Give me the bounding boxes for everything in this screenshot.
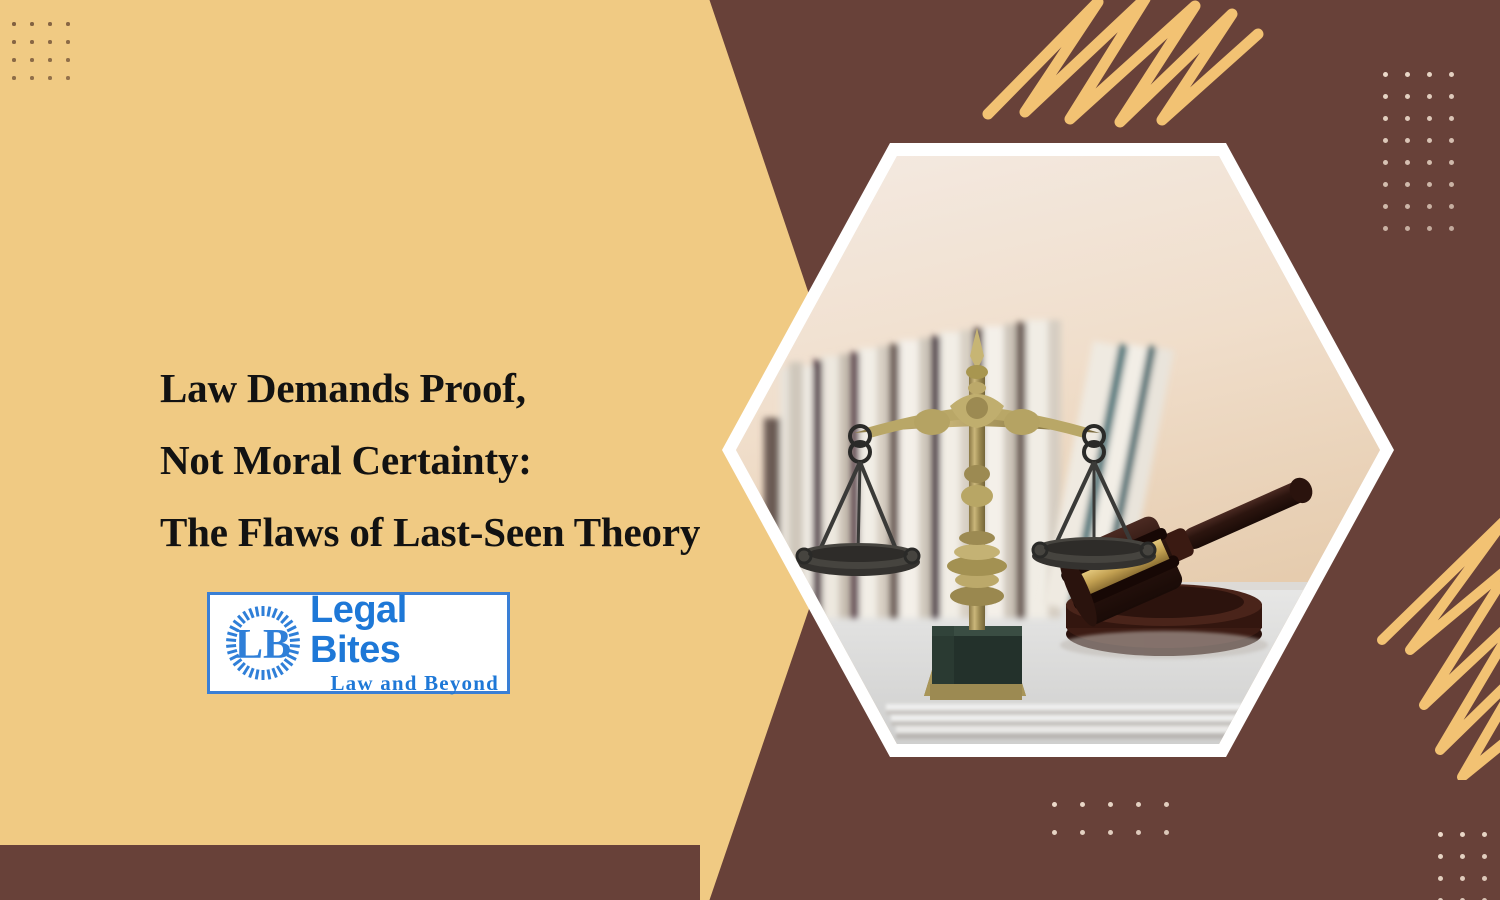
headline-line-1: Law Demands Proof,: [160, 352, 720, 424]
decorative-dot: [48, 76, 52, 80]
decorative-dot: [1108, 830, 1113, 835]
bottom-left-brown-bar: [0, 845, 700, 900]
decorative-dot: [1164, 802, 1169, 807]
decorative-dot: [1449, 94, 1454, 99]
decorative-dot: [1052, 830, 1057, 835]
decorative-dot: [1405, 204, 1410, 209]
decorative-dot: [1108, 802, 1113, 807]
hexagon-photo-frame: [722, 143, 1394, 757]
decorative-dot: [12, 40, 16, 44]
decorative-dot: [1482, 832, 1487, 837]
decorative-dot: [1427, 138, 1432, 143]
decorative-dot: [1080, 830, 1085, 835]
legal-bites-monogram-icon: LB: [220, 600, 306, 686]
decorative-dot: [1460, 854, 1465, 859]
decorative-dot: [48, 22, 52, 26]
decorative-dot: [1080, 802, 1085, 807]
hexagon-photo-mask: [736, 156, 1380, 744]
decorative-dot: [1383, 116, 1388, 121]
decorative-dot: [1405, 116, 1410, 121]
decorative-dot: [1427, 94, 1432, 99]
banner: Law Demands Proof, Not Moral Certainty: …: [0, 0, 1500, 900]
decorative-dot: [1164, 830, 1169, 835]
bottom-right-dot-grid: [1438, 832, 1500, 900]
decorative-dot: [1449, 226, 1454, 231]
decorative-dot: [1405, 138, 1410, 143]
decorative-dot: [1460, 876, 1465, 881]
decorative-dot: [1405, 72, 1410, 77]
decorative-dot: [1427, 204, 1432, 209]
decorative-dot: [1438, 854, 1443, 859]
decorative-dot: [1438, 876, 1443, 881]
decorative-dot: [1449, 116, 1454, 121]
decorative-dot: [1427, 226, 1432, 231]
justice-scales-photo: [736, 156, 1380, 744]
headline-line-2: Not Moral Certainty:: [160, 424, 720, 496]
decorative-dot: [48, 58, 52, 62]
decorative-dot: [12, 76, 16, 80]
logo-wordmark: Legal Bites Law and Beyond: [310, 590, 499, 696]
logo-tagline: Law and Beyond: [310, 670, 499, 696]
decorative-dot: [66, 76, 70, 80]
decorative-dot: [1136, 830, 1141, 835]
decorative-dot: [1449, 138, 1454, 143]
decorative-dot: [1449, 204, 1454, 209]
top-left-dot-grid: [12, 22, 84, 94]
decorative-dot: [1482, 876, 1487, 881]
decorative-dot: [30, 76, 34, 80]
decorative-dot: [12, 58, 16, 62]
headline: Law Demands Proof, Not Moral Certainty: …: [160, 352, 720, 568]
decorative-dot: [66, 58, 70, 62]
decorative-dot: [1438, 832, 1443, 837]
decorative-dot: [1427, 160, 1432, 165]
decorative-dot: [1405, 226, 1410, 231]
decorative-dot: [30, 22, 34, 26]
decorative-dot: [1427, 182, 1432, 187]
decorative-dot: [1405, 160, 1410, 165]
legal-bites-logo[interactable]: LB Legal Bites Law and Beyond: [207, 592, 510, 694]
decorative-dot: [1449, 182, 1454, 187]
logo-name: Legal Bites: [310, 590, 499, 670]
decorative-dot: [1405, 182, 1410, 187]
headline-line-3: The Flaws of Last-Seen Theory: [160, 496, 720, 568]
decorative-dot: [1449, 72, 1454, 77]
decorative-dot: [12, 22, 16, 26]
decorative-dot: [48, 40, 52, 44]
decorative-dot: [1460, 832, 1465, 837]
decorative-dot: [30, 40, 34, 44]
decorative-dot: [1405, 94, 1410, 99]
monogram-letters: LB: [235, 622, 291, 668]
decorative-dot: [66, 22, 70, 26]
bottom-center-dot-grid: [1052, 802, 1192, 858]
decorative-dot: [1383, 72, 1388, 77]
decorative-dot: [1052, 802, 1057, 807]
decorative-dot: [1427, 72, 1432, 77]
top-right-dot-grid: [1383, 72, 1471, 248]
decorative-dot: [1383, 94, 1388, 99]
decorative-dot: [30, 58, 34, 62]
decorative-dot: [1136, 802, 1141, 807]
decorative-dot: [1427, 116, 1432, 121]
decorative-dot: [1482, 854, 1487, 859]
decorative-dot: [66, 40, 70, 44]
decorative-dot: [1449, 160, 1454, 165]
